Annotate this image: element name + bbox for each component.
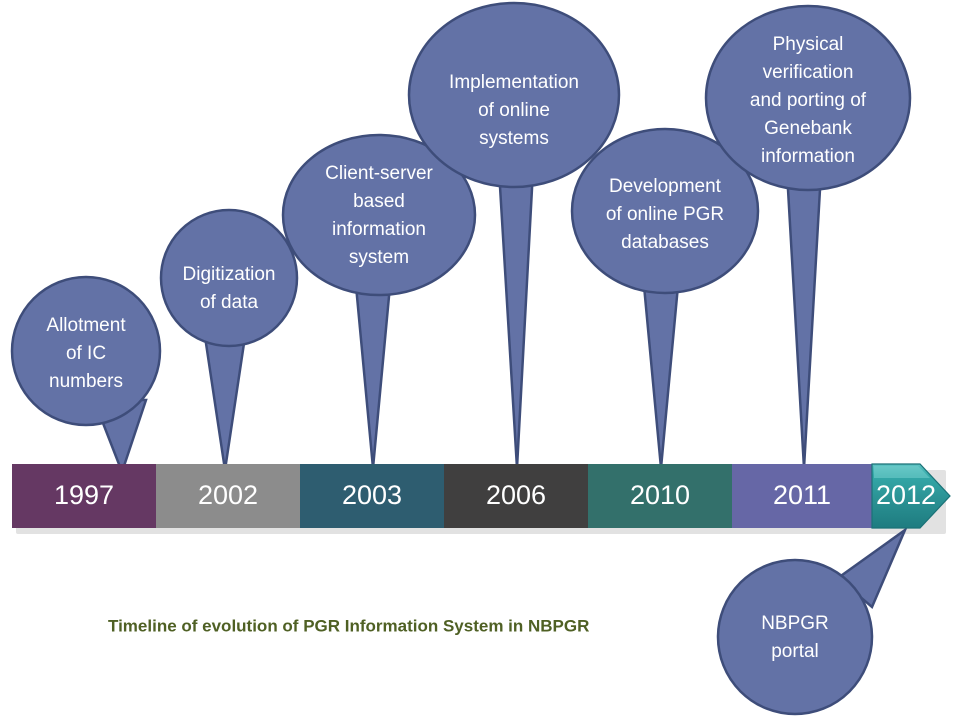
year-label-2010: 2010 bbox=[630, 480, 690, 510]
bubble-physical-verification-genebank[interactable]: Physical verification and porting of Gen… bbox=[706, 6, 910, 190]
bubble-line: Genebank bbox=[764, 118, 852, 139]
tail-2010 bbox=[643, 275, 679, 468]
bubble-line: Physical bbox=[773, 34, 844, 55]
bubble-line: databases bbox=[621, 232, 709, 253]
bubble-line: information bbox=[761, 146, 855, 167]
year-label-2006: 2006 bbox=[486, 480, 546, 510]
year-label-2011: 2011 bbox=[773, 480, 831, 510]
year-label-2012: 2012 bbox=[876, 480, 936, 510]
diagram-caption: Timeline of evolution of PGR Information… bbox=[108, 616, 589, 635]
bubble-shape bbox=[718, 560, 872, 714]
tail-2003 bbox=[355, 275, 391, 468]
bubble-line: Development bbox=[609, 176, 722, 197]
bubble-line: of data bbox=[200, 292, 259, 313]
bubble-line: portal bbox=[771, 641, 819, 662]
bubble-allotment-of-ic-numbers[interactable]: Allotment of IC numbers bbox=[12, 277, 160, 425]
bubble-line: information bbox=[332, 219, 426, 240]
bubble-line: systems bbox=[479, 128, 549, 149]
bubble-line: numbers bbox=[49, 371, 123, 392]
bubble-line: and porting of bbox=[750, 90, 867, 111]
tail-2011 bbox=[787, 172, 821, 468]
bubble-line: Allotment bbox=[46, 315, 126, 336]
bubble-line: of online PGR bbox=[606, 204, 724, 225]
timeline-diagram: 1997 2002 2003 2006 2010 2011 2012 Allot… bbox=[0, 0, 960, 720]
bubble-nbpgr-portal[interactable]: NBPGR portal bbox=[718, 560, 872, 714]
bubble-implementation-of-online-systems[interactable]: Implementation of online systems bbox=[409, 3, 619, 187]
year-label-1997: 1997 bbox=[54, 480, 114, 510]
year-label-2002: 2002 bbox=[198, 480, 258, 510]
tail-2006 bbox=[499, 170, 533, 468]
year-label-2003: 2003 bbox=[342, 480, 402, 510]
bubble-shape bbox=[409, 3, 619, 187]
bubble-line: of IC bbox=[66, 343, 106, 364]
bubble-line: system bbox=[349, 247, 409, 268]
bubble-digitization-of-data[interactable]: Digitization of data bbox=[161, 210, 297, 346]
bubble-line: Implementation bbox=[449, 72, 579, 93]
bubble-line: Client-server bbox=[325, 163, 433, 184]
bubble-line: NBPGR bbox=[761, 613, 829, 634]
milestone-bubbles: Allotment of IC numbers Digitization of … bbox=[12, 3, 910, 714]
bubble-line: Digitization bbox=[183, 264, 276, 285]
bubble-line: of online bbox=[478, 100, 550, 121]
tail-2002 bbox=[204, 330, 246, 470]
bubble-line: verification bbox=[763, 62, 854, 83]
bubble-line: based bbox=[353, 191, 405, 212]
diagram-canvas: 1997 2002 2003 2006 2010 2011 2012 Allot… bbox=[0, 0, 960, 720]
